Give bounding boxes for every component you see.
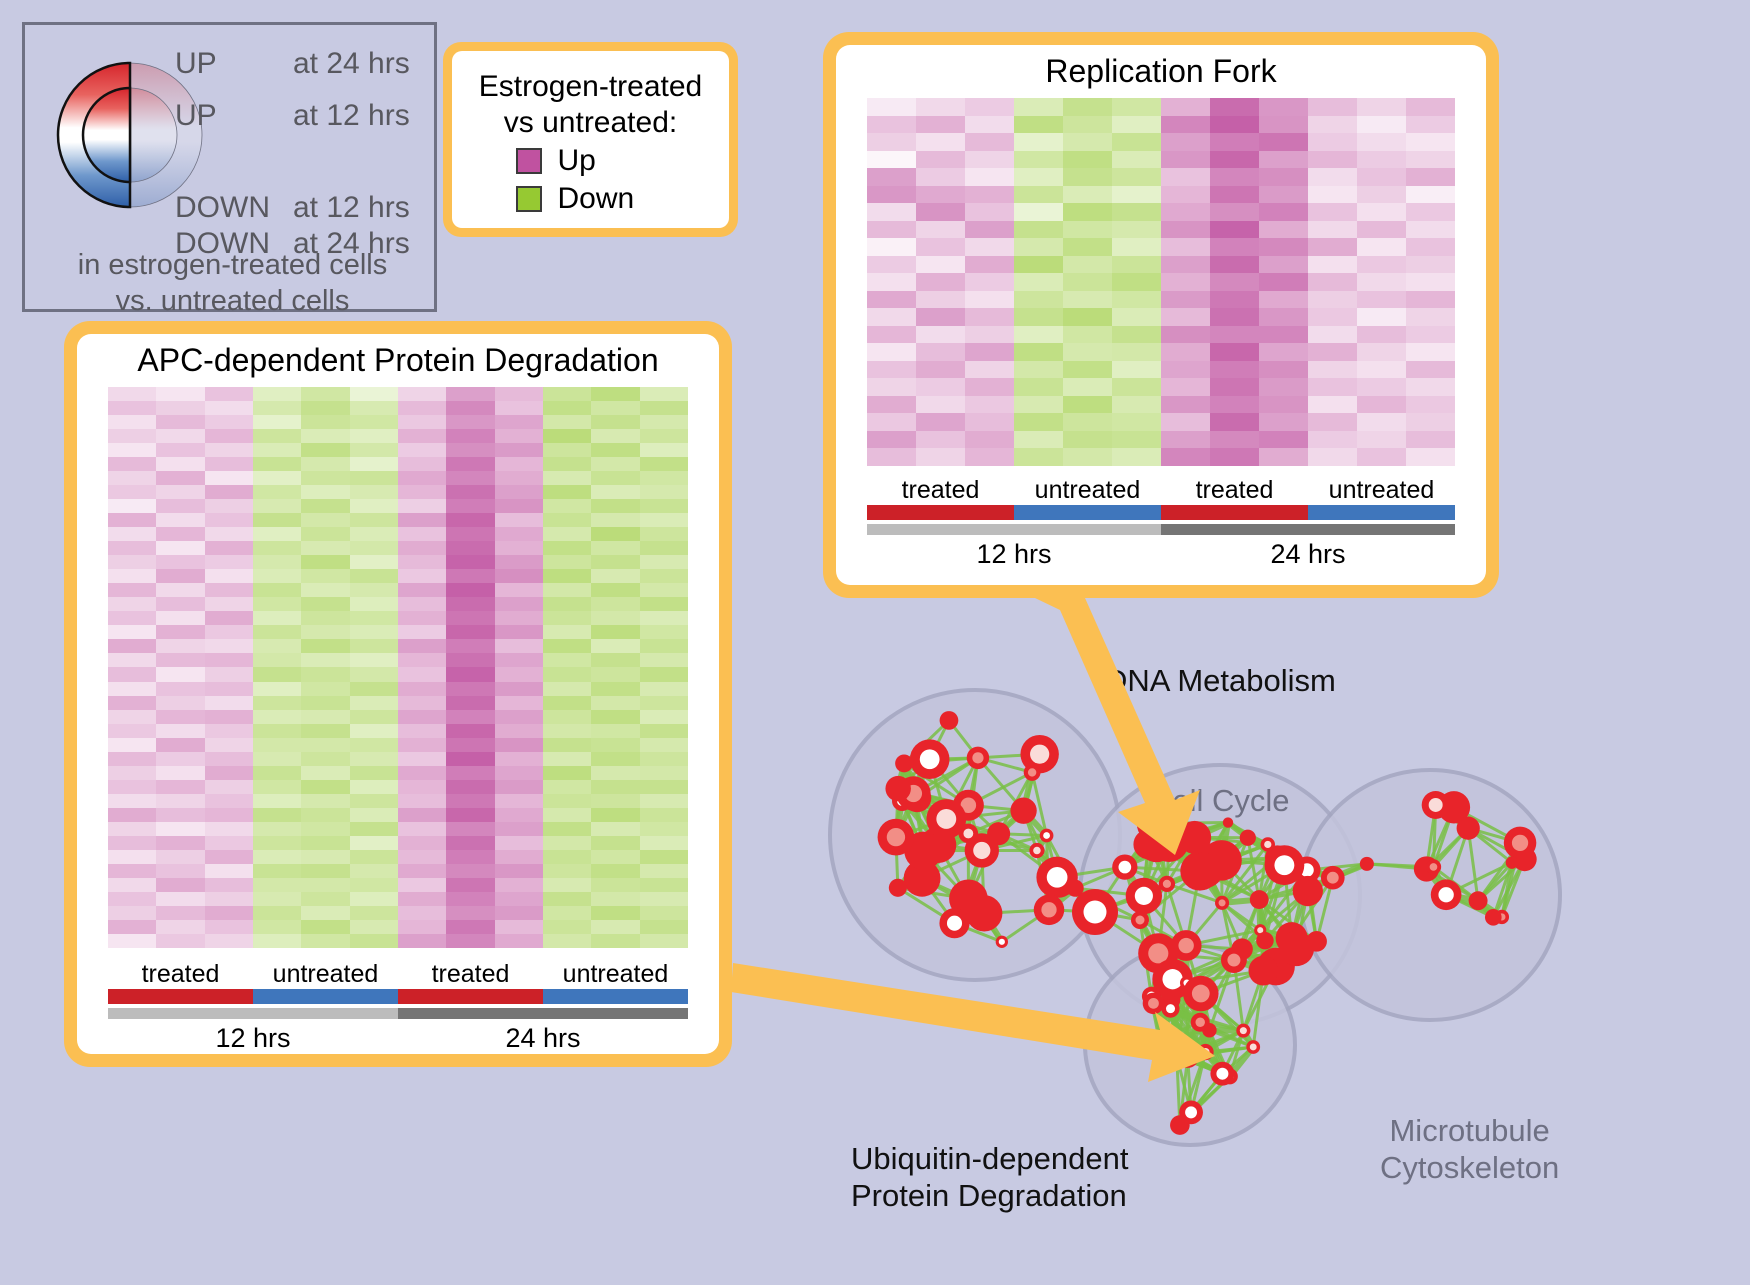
heatmap-cell <box>1210 203 1259 221</box>
heatmap-cell <box>1063 308 1112 326</box>
heatmap-cell <box>543 794 591 808</box>
heatmap-cell <box>867 413 916 431</box>
heatmap-cell <box>1308 291 1357 309</box>
heatmap-cell <box>253 696 301 710</box>
heatmap-cell <box>591 822 639 836</box>
heatmap-cell <box>398 499 446 513</box>
network-node <box>966 895 1002 931</box>
heatmap-cell <box>916 291 965 309</box>
heatmap-cell <box>108 766 156 780</box>
heatmap-cell <box>495 527 543 541</box>
heatmap-cell <box>543 569 591 583</box>
heatmap-cell <box>398 780 446 794</box>
heatmap-cell <box>591 850 639 864</box>
heatmap-cell <box>1308 361 1357 379</box>
heatmap-cell <box>1259 186 1308 204</box>
heatmap-cell <box>205 836 253 850</box>
heatmap-cell <box>446 569 494 583</box>
heatmap-cell <box>916 378 965 396</box>
heatmap-cell <box>1112 203 1161 221</box>
heatmap-cell <box>640 485 688 499</box>
heatmap-cell <box>398 878 446 892</box>
network-node-core <box>999 939 1005 945</box>
heatmap-cell <box>1161 256 1210 274</box>
heatmap-cell <box>965 151 1014 169</box>
network-node-core <box>947 916 962 931</box>
heatmap-cell <box>156 892 204 906</box>
heatmap-cell <box>543 499 591 513</box>
heatmap-cell <box>446 836 494 850</box>
heatmap-cell <box>867 378 916 396</box>
treatment-bar-segment <box>867 505 1014 520</box>
heatmap-cell <box>446 766 494 780</box>
treatment-color-bar <box>108 989 688 1004</box>
heatmap-cell <box>253 738 301 752</box>
heatmap-cell <box>1210 256 1259 274</box>
heatmap-cell <box>398 710 446 724</box>
heatmap-cell <box>1161 238 1210 256</box>
network-node-core <box>920 749 940 769</box>
heatmap-cell <box>350 625 398 639</box>
heatmap-cell <box>156 653 204 667</box>
heatmap-cell <box>495 611 543 625</box>
heatmap-cell <box>965 361 1014 379</box>
heatmap-cell <box>1063 238 1112 256</box>
heatmap-cell <box>156 822 204 836</box>
heatmap-cell <box>253 485 301 499</box>
heatmap-cell <box>1259 168 1308 186</box>
heatmap-cell <box>301 429 349 443</box>
heatmap-cell <box>1063 448 1112 466</box>
heatmap-cell <box>1357 396 1406 414</box>
heatmap-cell <box>301 513 349 527</box>
heatmap-cell <box>1259 448 1308 466</box>
network-node-core <box>1430 863 1438 871</box>
heatmap-cell <box>205 625 253 639</box>
heatmap-cell <box>446 485 494 499</box>
network-node-core <box>1148 998 1159 1009</box>
heatmap-cell <box>446 457 494 471</box>
heatmap-cell <box>108 682 156 696</box>
heatmap-cell <box>1161 151 1210 169</box>
heatmap-cell <box>350 892 398 906</box>
heatmap-cell <box>108 443 156 457</box>
heatmap-cell <box>1161 291 1210 309</box>
heatmap-cell <box>446 583 494 597</box>
heatmap-cell <box>916 308 965 326</box>
heatmap-cell <box>301 710 349 724</box>
heatmap-cell <box>398 513 446 527</box>
heatmap-cell <box>495 696 543 710</box>
heatmap-cell <box>301 724 349 738</box>
heatmap-cell <box>965 396 1014 414</box>
heatmap-cell <box>1014 116 1063 134</box>
heatmap-cell <box>446 443 494 457</box>
heatmap-cell <box>205 513 253 527</box>
heatmap-cell <box>543 920 591 934</box>
heatmap-cell <box>205 808 253 822</box>
heatmap-cell <box>495 583 543 597</box>
heatmap-cell <box>965 133 1014 151</box>
heatmap-cell <box>301 836 349 850</box>
heatmap-cell <box>156 850 204 864</box>
heatmap-cell <box>1406 273 1455 291</box>
heatmap-cell <box>156 457 204 471</box>
heatmap-cell <box>916 413 965 431</box>
heatmap-cell <box>398 906 446 920</box>
heatmap-cell <box>591 569 639 583</box>
heatmap-cell <box>1406 291 1455 309</box>
heatmap-cell <box>253 682 301 696</box>
heatmap-cell <box>301 583 349 597</box>
heatmap-cell <box>640 625 688 639</box>
heatmap-cell <box>965 308 1014 326</box>
heatmap-cell <box>965 343 1014 361</box>
heatmap-cell <box>253 920 301 934</box>
heatmap-cell <box>301 822 349 836</box>
group-label: treated <box>108 960 253 989</box>
heatmap-cell <box>1014 168 1063 186</box>
heatmap-cell <box>108 471 156 485</box>
heatmap-cell <box>156 682 204 696</box>
heatmap-cell <box>1112 186 1161 204</box>
heatmap-cell <box>640 780 688 794</box>
heatmap-cell <box>156 920 204 934</box>
heatmap-cell <box>1357 116 1406 134</box>
heatmap-cell <box>1161 431 1210 449</box>
heatmap-cell <box>965 431 1014 449</box>
network-node <box>1293 876 1323 906</box>
heatmap-replication-fork[interactable] <box>867 98 1455 466</box>
heatmap-cell <box>867 431 916 449</box>
heatmap-cell <box>495 836 543 850</box>
color-key-direction: DOWN <box>175 193 293 223</box>
heatmap-cell <box>301 653 349 667</box>
heatmap-cell <box>205 499 253 513</box>
heatmap-cell <box>495 625 543 639</box>
network-node <box>1485 909 1502 926</box>
heatmap-cell <box>965 203 1014 221</box>
heatmap-cell <box>1357 361 1406 379</box>
heatmap-cell <box>398 415 446 429</box>
heatmap-cell <box>398 611 446 625</box>
network-node-core <box>1033 847 1041 855</box>
heatmap-cell <box>495 920 543 934</box>
heatmap-cell <box>350 752 398 766</box>
heatmap-cell <box>205 401 253 415</box>
color-key-labels: UP at 24 hrs UP at 12 hrs DOWN at 12 hrs… <box>175 49 425 259</box>
heatmap-cell <box>543 780 591 794</box>
heatmap-cell <box>1161 326 1210 344</box>
heatmap-cell <box>205 429 253 443</box>
heatmap-cell <box>398 724 446 738</box>
heatmap-cell <box>253 822 301 836</box>
heatmap-cell <box>640 864 688 878</box>
heatmap-cell <box>350 864 398 878</box>
heatmap-cell <box>398 443 446 457</box>
network-node <box>1137 822 1177 862</box>
heatmap-cell <box>253 864 301 878</box>
network-node-core <box>1166 1004 1175 1013</box>
heatmap-cell <box>253 387 301 401</box>
heatmap-cell <box>1259 256 1308 274</box>
heatmap-cell <box>350 667 398 681</box>
heatmap-cell <box>1112 448 1161 466</box>
heatmap-cell <box>205 822 253 836</box>
heatmap-cell <box>156 541 204 555</box>
network-node-core <box>1136 916 1145 925</box>
network-node <box>889 879 907 897</box>
heatmap-cell <box>495 667 543 681</box>
heatmap-cell <box>301 906 349 920</box>
heatmap-cell <box>301 864 349 878</box>
heatmap-cell <box>156 485 204 499</box>
heatmap-cell <box>108 499 156 513</box>
heatmap-cell <box>350 555 398 569</box>
heatmap-cell <box>253 541 301 555</box>
network-cluster-label-ubiquitin-protein-degradation: Ubiquitin-dependent Protein Degradation <box>851 1140 1129 1214</box>
heatmap-cell <box>350 639 398 653</box>
treatment-bar-segment <box>543 989 688 1004</box>
heatmap-cell <box>495 597 543 611</box>
heatmap-cell <box>640 429 688 443</box>
heatmap-cell <box>640 569 688 583</box>
heatmap-cell <box>916 221 965 239</box>
heatmap-cell <box>205 541 253 555</box>
heatmap-cell <box>350 920 398 934</box>
heatmap-cell <box>543 415 591 429</box>
heatmap-cell <box>253 597 301 611</box>
heatmap-cell <box>446 822 494 836</box>
heatmap-cell <box>495 822 543 836</box>
heatmap-cell <box>543 822 591 836</box>
timepoint-label-row: 12 hrs 24 hrs <box>108 1023 688 1054</box>
heatmap-cell <box>1308 186 1357 204</box>
panel-apc-dependent-protein-degradation[interactable]: APC-dependent Protein Degradation treate… <box>64 321 732 1067</box>
heatmap-cell <box>916 273 965 291</box>
heatmap-cell <box>640 738 688 752</box>
heatmap-cell <box>965 413 1014 431</box>
heatmap-cell <box>108 583 156 597</box>
heatmap-cell <box>1063 203 1112 221</box>
heatmap-cell <box>543 625 591 639</box>
heatmap-cell <box>1112 273 1161 291</box>
network-node-core <box>1227 954 1240 967</box>
network-node <box>1240 830 1256 846</box>
heatmap-cell <box>591 724 639 738</box>
heatmap-cell <box>156 443 204 457</box>
heatmap-cell <box>1210 151 1259 169</box>
heatmap-cell <box>495 457 543 471</box>
group-label: untreated <box>543 960 688 989</box>
heatmap-cell <box>640 387 688 401</box>
heatmap-cell <box>446 906 494 920</box>
heatmap-cell <box>1259 413 1308 431</box>
heatmap-cell <box>350 878 398 892</box>
heatmap-cell <box>1357 203 1406 221</box>
heatmap-cell <box>640 597 688 611</box>
heatmap-cell <box>253 625 301 639</box>
heatmap-cell <box>446 682 494 696</box>
heatmap-cell <box>591 471 639 485</box>
heatmap-cell <box>591 892 639 906</box>
heatmap-cell <box>1308 133 1357 151</box>
heatmap-cell <box>543 850 591 864</box>
heatmap-cell <box>591 597 639 611</box>
heatmap-cell <box>640 920 688 934</box>
network-node-core <box>963 829 973 839</box>
heatmap-cell <box>1357 168 1406 186</box>
heatmap-cell <box>640 611 688 625</box>
heatmap-cell <box>1259 133 1308 151</box>
heatmap-cell <box>1161 116 1210 134</box>
heatmap-cell <box>1259 291 1308 309</box>
network-node <box>1250 890 1269 909</box>
heatmap-cell <box>253 667 301 681</box>
heatmap-cell <box>1308 116 1357 134</box>
heatmap-cell <box>495 682 543 696</box>
heatmap-cell <box>1210 413 1259 431</box>
heatmap-cell <box>446 780 494 794</box>
heatmap-cell <box>301 850 349 864</box>
heatmap-cell <box>108 738 156 752</box>
heatmap-cell <box>1014 448 1063 466</box>
heatmap-cell <box>1063 168 1112 186</box>
heatmap-cell <box>1308 308 1357 326</box>
heatmap-cell <box>1357 343 1406 361</box>
heatmap-cell <box>1210 133 1259 151</box>
heatmap-cell <box>398 822 446 836</box>
heatmap-cell <box>1406 98 1455 116</box>
heatmap-cell <box>253 583 301 597</box>
network-cluster-label-cell-cycle: Cell Cycle <box>1150 782 1290 819</box>
network-node-core <box>1162 969 1182 989</box>
heatmap-cell <box>591 920 639 934</box>
heatmap-cell <box>156 611 204 625</box>
heatmap-cell <box>253 836 301 850</box>
heatmap-cell <box>591 934 639 948</box>
heatmap-cell <box>916 256 965 274</box>
heatmap-cell <box>1406 186 1455 204</box>
heatmap-cell <box>301 780 349 794</box>
heatmap-cell <box>156 780 204 794</box>
heatmap-cell <box>398 541 446 555</box>
heatmap-cell <box>640 794 688 808</box>
network-node <box>1360 857 1374 871</box>
heatmap-cell <box>301 387 349 401</box>
heatmap-cell <box>350 611 398 625</box>
heatmap-cell <box>350 387 398 401</box>
heatmap-cell <box>495 429 543 443</box>
heatmap-cell <box>867 308 916 326</box>
heatmap-cell <box>398 864 446 878</box>
heatmap-cell <box>591 906 639 920</box>
heatmap-cell <box>446 401 494 415</box>
heatmap-cell <box>1210 221 1259 239</box>
heatmap-cell <box>1308 396 1357 414</box>
heatmap-cell <box>495 934 543 948</box>
heatmap-cell <box>156 583 204 597</box>
network-cluster-label-dna-metabolism: DNA Metabolism <box>1105 662 1336 699</box>
heatmap-cell <box>1357 326 1406 344</box>
heatmap-cell <box>965 238 1014 256</box>
heatmap-cell <box>446 794 494 808</box>
heatmap-cell <box>591 401 639 415</box>
heatmap-cell <box>108 387 156 401</box>
heatmap-cell <box>1112 396 1161 414</box>
heatmap-cell <box>108 724 156 738</box>
heatmap-cell <box>543 597 591 611</box>
heatmap-cell <box>1014 203 1063 221</box>
heatmap-legend-title-line2: vs untreated: <box>479 105 702 140</box>
heatmap-cell <box>1014 378 1063 396</box>
heatmap-cell <box>108 485 156 499</box>
timepoint-label: 24 hrs <box>1161 539 1455 570</box>
heatmap-cell <box>156 738 204 752</box>
heatmap-cell <box>495 850 543 864</box>
heatmap-cell <box>543 808 591 822</box>
heatmap-cell <box>350 513 398 527</box>
heatmap-cell <box>1406 361 1455 379</box>
heatmap-cell <box>301 569 349 583</box>
heatmap-cell <box>591 625 639 639</box>
color-key-box: UP at 24 hrs UP at 12 hrs DOWN at 12 hrs… <box>22 22 437 312</box>
heatmap-apc-dependent-protein-degradation[interactable] <box>108 387 688 948</box>
heatmap-cell <box>253 892 301 906</box>
heatmap-cell <box>640 836 688 850</box>
timepoint-bar-segment <box>867 524 1161 535</box>
heatmap-cell <box>543 541 591 555</box>
heatmap-cell <box>108 541 156 555</box>
heatmap-cell <box>253 850 301 864</box>
timepoint-color-bar <box>108 1008 688 1019</box>
heatmap-cell <box>301 499 349 513</box>
heatmap-cell <box>446 850 494 864</box>
heatmap-cell <box>1406 151 1455 169</box>
heatmap-cell <box>205 850 253 864</box>
heatmap-cell <box>1259 151 1308 169</box>
panel-replication-fork[interactable]: Replication Fork treated untreated treat… <box>823 32 1499 598</box>
heatmap-cell <box>108 429 156 443</box>
heatmap-cell <box>495 513 543 527</box>
heatmap-cell <box>1357 308 1406 326</box>
network-node-core <box>1274 855 1294 875</box>
color-key-caption: in estrogen-treated cells vs. untreated … <box>25 247 440 320</box>
heatmap-cell <box>446 892 494 906</box>
heatmap-cell <box>446 429 494 443</box>
heatmap-cell <box>205 443 253 457</box>
heatmap-cell <box>156 906 204 920</box>
heatmap-cell <box>301 401 349 415</box>
heatmap-cell <box>543 583 591 597</box>
timepoint-label: 24 hrs <box>398 1023 688 1054</box>
heatmap-cell <box>1406 431 1455 449</box>
heatmap-cell <box>350 780 398 794</box>
heatmap-cell <box>1308 431 1357 449</box>
heatmap-cell <box>543 667 591 681</box>
heatmap-cell <box>591 639 639 653</box>
heatmap-cell <box>1210 186 1259 204</box>
heatmap-cell <box>965 273 1014 291</box>
heatmap-cell <box>205 555 253 569</box>
heatmap-cell <box>1308 221 1357 239</box>
heatmap-cell <box>446 527 494 541</box>
heatmap-cell <box>543 864 591 878</box>
heatmap-cell <box>1357 273 1406 291</box>
heatmap-cell <box>867 291 916 309</box>
heatmap-cell <box>301 457 349 471</box>
heatmap-cell <box>1161 378 1210 396</box>
